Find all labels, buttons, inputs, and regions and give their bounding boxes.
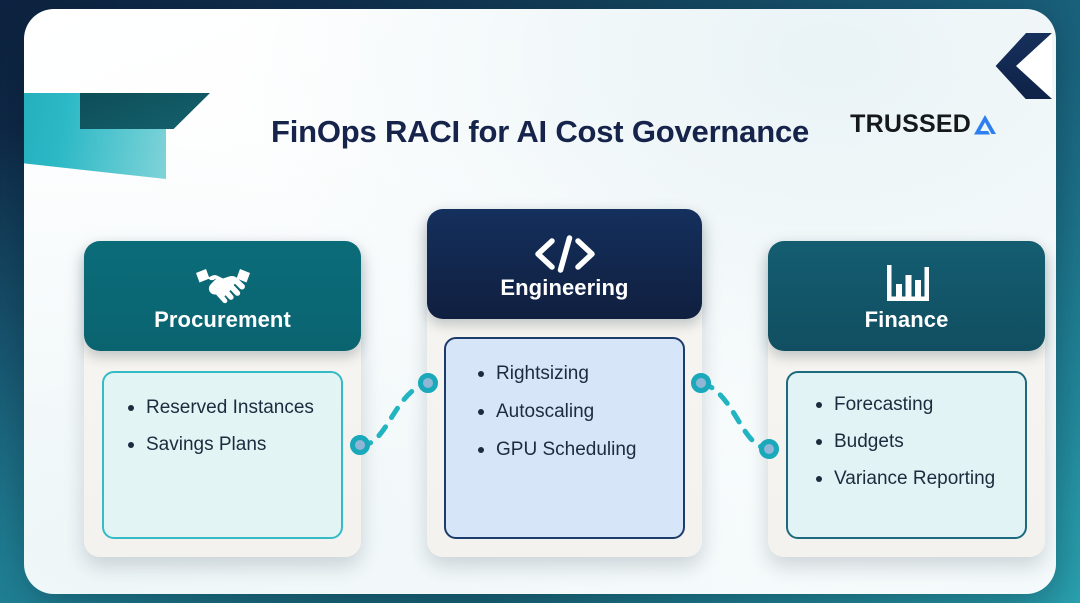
list-item: Budgets: [814, 430, 1025, 454]
brand-logo: TRUSSED: [850, 110, 998, 139]
bar-chart-icon: [881, 261, 933, 307]
card-engineering-header: Engineering: [427, 209, 702, 319]
list-item: Variance Reporting: [814, 467, 1025, 491]
card-finance-header: Finance: [768, 241, 1045, 351]
list-item: Rightsizing: [476, 362, 683, 386]
card-procurement-title: Procurement: [84, 307, 361, 333]
bar-chart-icon-wrap: [768, 255, 1045, 307]
card-engineering-list: Rightsizing Autoscaling GPU Scheduling: [446, 339, 683, 461]
card-finance-title: Finance: [768, 307, 1045, 333]
brand-wordmark: TRUSSED: [850, 110, 971, 139]
list-item: Autoscaling: [476, 400, 683, 424]
title-banner: Shared Accountability = Sustainable AI C…: [80, 33, 1052, 99]
connector-left-dashed-line: [360, 383, 427, 445]
card-procurement-list: Reserved Instances Savings Plans: [104, 373, 341, 457]
connector-right-end-dot: [762, 442, 777, 457]
connector-right-dashed-line: [702, 383, 769, 449]
card-finance-panel: Forecasting Budgets Variance Reporting: [786, 371, 1027, 539]
handshake-icon: [192, 263, 254, 307]
card-engineering-panel: Rightsizing Autoscaling GPU Scheduling: [444, 337, 685, 539]
list-item: GPU Scheduling: [476, 438, 683, 462]
card-procurement[interactable]: Procurement Reserved Instances Savings P…: [84, 241, 361, 557]
code-brackets-icon: [531, 233, 599, 275]
card-finance-list: Forecasting Budgets Variance Reporting: [788, 373, 1025, 490]
connector-left-end-dot: [421, 376, 436, 391]
list-item: Forecasting: [814, 393, 1025, 417]
connector-engineering-to-finance: [689, 367, 781, 463]
content-page: Shared Accountability = Sustainable AI C…: [24, 9, 1056, 594]
connector-right-start-dot: [694, 376, 709, 391]
trussed-a-mark-icon: [972, 113, 998, 137]
list-item: Reserved Instances: [126, 396, 341, 420]
handshake-icon-wrap: [84, 255, 361, 307]
banner-notch-decoration: [1016, 33, 1052, 99]
connector-left-start-dot: [353, 438, 368, 453]
banner-title: Shared Accountability = Sustainable AI C…: [154, 48, 934, 84]
card-engineering-title: Engineering: [427, 275, 702, 301]
card-procurement-panel: Reserved Instances Savings Plans: [102, 371, 343, 539]
infographic-canvas: Shared Accountability = Sustainable AI C…: [0, 0, 1080, 603]
card-finance[interactable]: Finance Forecasting Budgets Variance Rep…: [768, 241, 1045, 557]
code-icon-wrap: [427, 225, 702, 275]
connector-procurement-to-engineering: [349, 367, 441, 463]
list-item: Savings Plans: [126, 433, 341, 457]
page-subtitle: FinOps RACI for AI Cost Governance: [271, 114, 809, 150]
card-procurement-header: Procurement: [84, 241, 361, 351]
card-engineering[interactable]: Engineering Rightsizing Autoscaling GPU …: [427, 209, 702, 557]
